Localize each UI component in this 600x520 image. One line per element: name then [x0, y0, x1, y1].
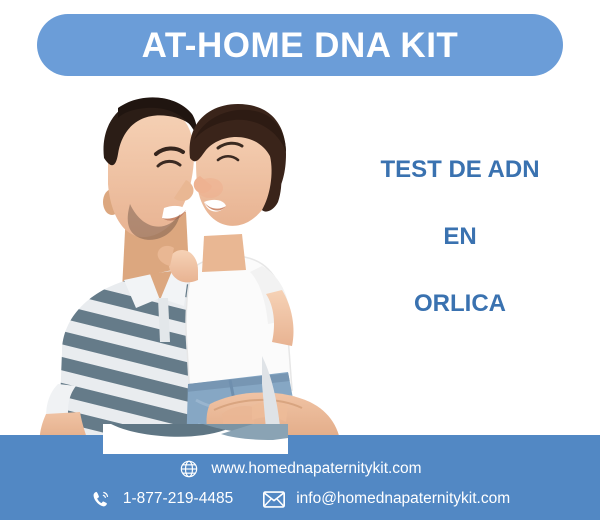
headline-block: TEST DE ADN EN ORLICA [330, 158, 590, 316]
footer-website-text: www.homednapaternitykit.com [211, 461, 421, 477]
hero-photo [0, 84, 345, 452]
envelope-icon [263, 488, 285, 510]
footer-contact-row: 1-877-219-4485 info@homednapaternitykit.… [0, 488, 600, 510]
footer-email-text: info@homednapaternitykit.com [296, 491, 510, 507]
header-title: AT-HOME DNA KIT [142, 28, 459, 63]
headline-line-3: ORLICA [330, 292, 590, 316]
phone-icon [90, 488, 112, 510]
footer-website-row: www.homednapaternitykit.com [0, 458, 600, 480]
headline-line-1: TEST DE ADN [330, 158, 590, 182]
headline-line-2: EN [330, 225, 590, 249]
footer-photo-overlap [103, 424, 288, 454]
footer-email-item[interactable]: info@homednapaternitykit.com [263, 488, 510, 510]
poster-canvas: AT-HOME DNA KIT [0, 0, 600, 520]
footer-phone-text: 1-877-219-4485 [123, 491, 233, 507]
header-banner: AT-HOME DNA KIT [37, 14, 563, 76]
globe-icon [178, 458, 200, 480]
footer-website-item[interactable]: www.homednapaternitykit.com [178, 458, 421, 480]
hero-photo-image [0, 84, 345, 452]
footer-phone-item[interactable]: 1-877-219-4485 [90, 488, 233, 510]
